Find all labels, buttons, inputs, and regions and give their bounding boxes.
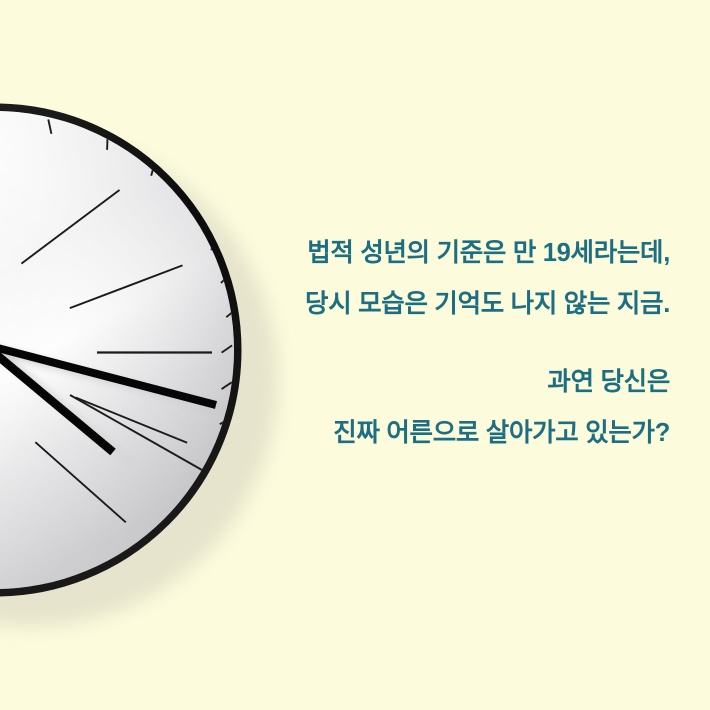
quote-line-1: 법적 성년의 기준은 만 19세라는데, [240,228,670,279]
quote-line-4: 진짜 어른으로 살아가고 있는가? [240,408,670,459]
korean-quote-overlay: 법적 성년의 기준은 만 19세라는데, 당시 모습은 기억도 나지 않는 지금… [240,228,670,459]
poster-canvas: 법적 성년의 기준은 만 19세라는데, 당시 모습은 기억도 나지 않는 지금… [0,0,710,710]
quote-line-3: 과연 당신은 [240,357,670,408]
quote-line-2: 당시 모습은 기억도 나지 않는 지금. [240,279,670,330]
quote-spacer [240,330,670,357]
